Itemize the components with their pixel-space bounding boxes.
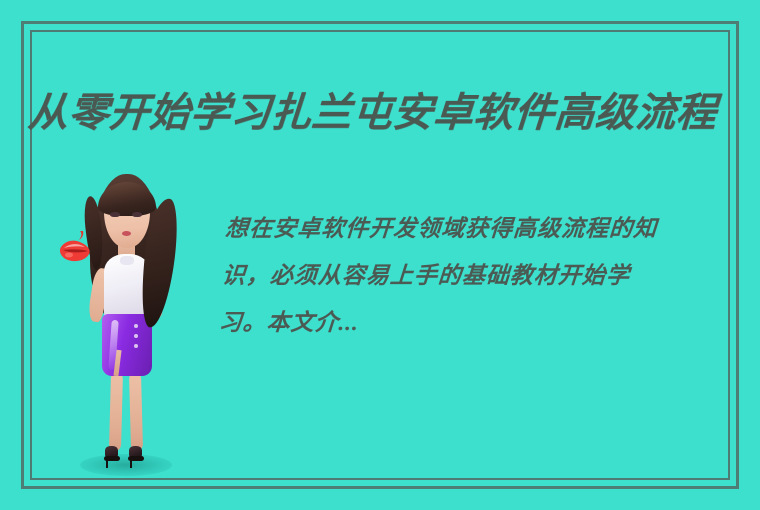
high-heel-left bbox=[104, 446, 120, 468]
eye-right bbox=[132, 212, 142, 217]
eye-left bbox=[110, 212, 120, 217]
article-card: 从零开始学习扎兰屯安卓软件高级流程 想在安卓软件开发领域获得高级流程的知识，必须… bbox=[0, 0, 760, 510]
mouth bbox=[122, 231, 131, 236]
skirt-button-3 bbox=[134, 344, 138, 348]
leg-right bbox=[129, 372, 143, 450]
heel-spike-left bbox=[106, 460, 108, 468]
collar-bow bbox=[120, 256, 134, 265]
leg-left bbox=[109, 372, 123, 450]
cartoon-woman-illustration bbox=[58, 174, 192, 486]
skirt-button-1 bbox=[134, 324, 138, 328]
red-lips-icon bbox=[58, 230, 98, 264]
skirt-button-2 bbox=[134, 334, 138, 338]
figure-shadow bbox=[80, 454, 172, 476]
heel-spike-right bbox=[130, 460, 132, 468]
article-summary: 想在安卓软件开发领域获得高级流程的知识，必须从容易上手的基础教材开始学习。本文介… bbox=[217, 205, 681, 346]
high-heel-right bbox=[128, 446, 144, 468]
page-title: 从零开始学习扎兰屯安卓软件高级流程 bbox=[26, 85, 742, 141]
